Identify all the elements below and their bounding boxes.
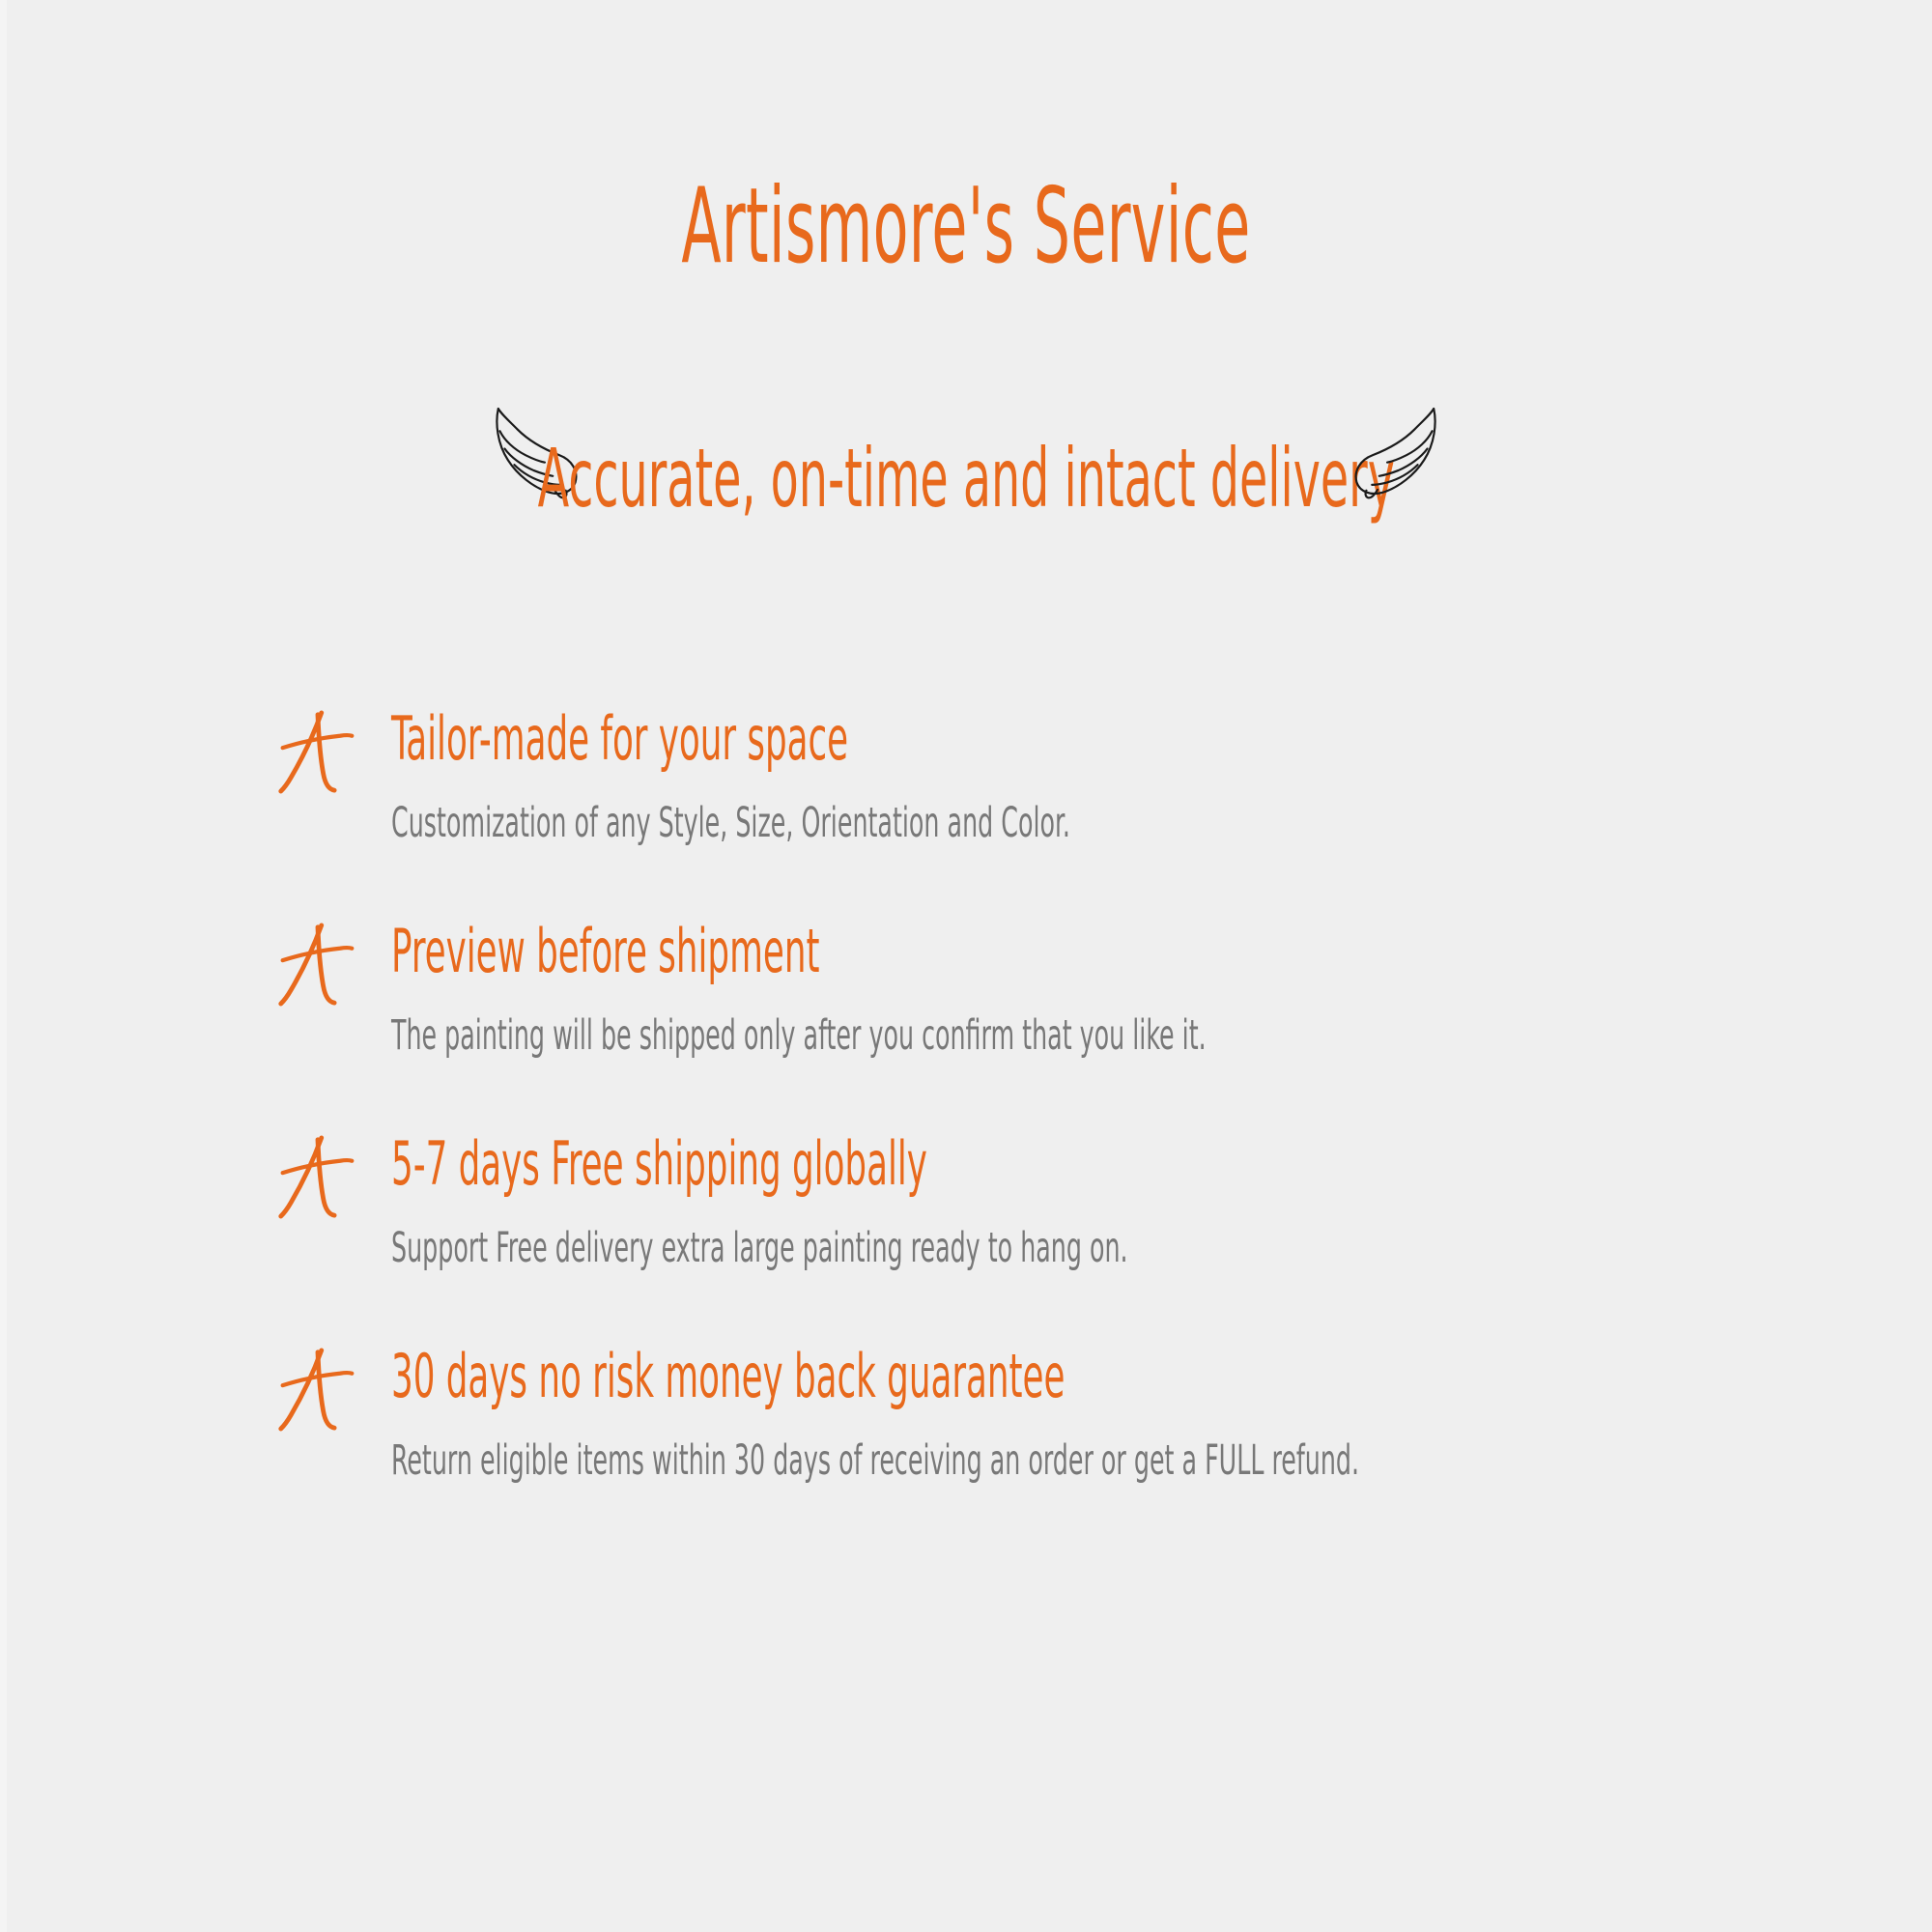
feature-description: The painting will be shipped only after … bbox=[391, 1011, 1353, 1062]
feature-heading: 30 days no risk money back guarantee bbox=[391, 1343, 1331, 1409]
angel-wing-right-icon bbox=[1347, 399, 1447, 503]
feature-heading: 5-7 days Free shipping globally bbox=[391, 1130, 1331, 1197]
feature-item: 30 days no risk money back guarantee Ret… bbox=[275, 1343, 1860, 1555]
script-a-icon bbox=[275, 920, 358, 1009]
script-a-icon bbox=[275, 1345, 358, 1434]
page-title: Artismore's Service bbox=[367, 172, 1565, 281]
feature-body: Tailor-made for your space Customization… bbox=[391, 705, 1860, 849]
feature-heading: Preview before shipment bbox=[391, 918, 1331, 984]
script-a-icon bbox=[275, 707, 358, 796]
feature-body: Preview before shipment The painting wil… bbox=[391, 918, 1860, 1062]
page-subtitle: Accurate, on-time and intact delivery bbox=[537, 436, 1394, 521]
subtitle-row: Accurate, on-time and intact delivery bbox=[0, 411, 1932, 546]
feature-body: 5-7 days Free shipping globally Support … bbox=[391, 1130, 1860, 1274]
feature-description: Customization of any Style, Size, Orient… bbox=[391, 799, 1353, 849]
feature-item: Tailor-made for your space Customization… bbox=[275, 705, 1860, 918]
script-a-icon bbox=[275, 1132, 358, 1221]
feature-heading: Tailor-made for your space bbox=[391, 705, 1331, 772]
feature-description: Support Free delivery extra large painti… bbox=[391, 1224, 1353, 1274]
feature-item: Preview before shipment The painting wil… bbox=[275, 918, 1860, 1130]
feature-body: 30 days no risk money back guarantee Ret… bbox=[391, 1343, 1860, 1487]
feature-description: Return eligible items within 30 days of … bbox=[391, 1436, 1353, 1487]
service-info-page: Artismore's Service Accurate, on-time an… bbox=[0, 0, 1932, 1932]
feature-list: Tailor-made for your space Customization… bbox=[275, 705, 1860, 1555]
feature-item: 5-7 days Free shipping globally Support … bbox=[275, 1130, 1860, 1343]
